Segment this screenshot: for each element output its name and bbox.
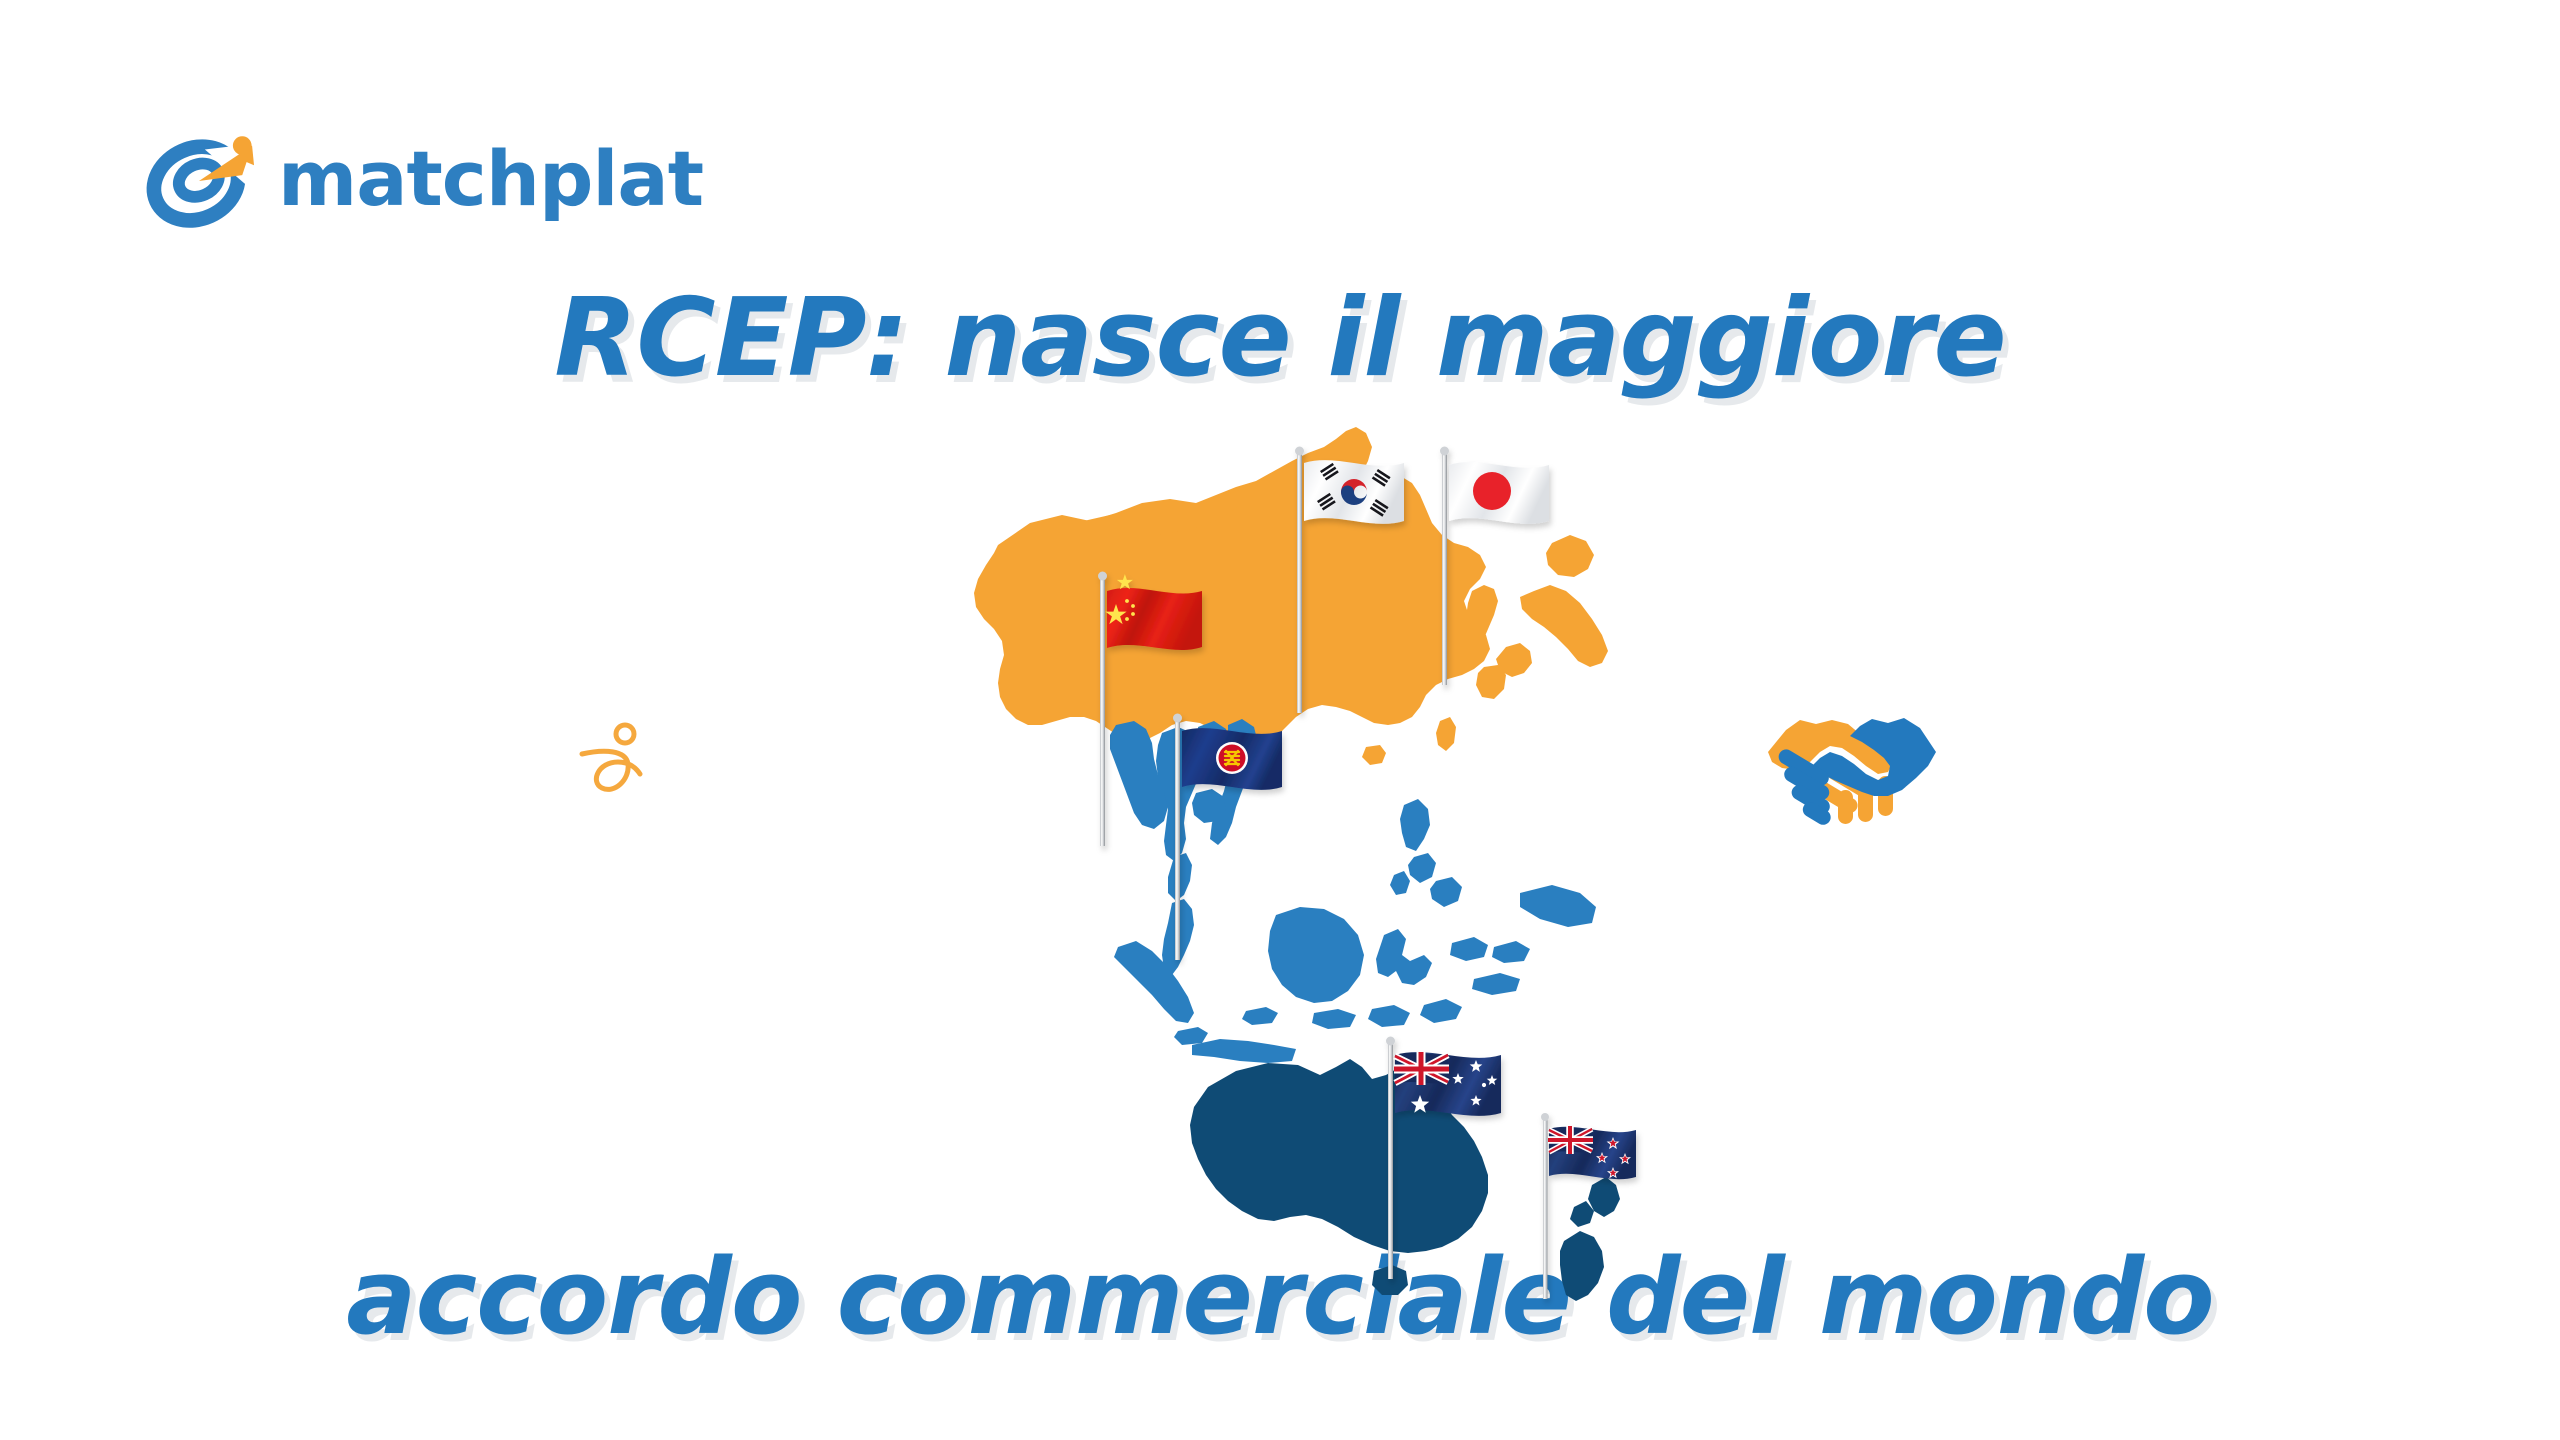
brand-logo[interactable]: matchplat xyxy=(138,120,703,238)
poster-canvas: matchplat RCEP: nasce il maggiore accord… xyxy=(0,0,2560,1440)
handshake-icon xyxy=(1762,690,1942,840)
page-title-line-2: accordo commerciale del mondo xyxy=(0,1245,2560,1349)
page-title-line-1: RCEP: nasce il maggiore xyxy=(0,285,2560,393)
rcep-map-illustration xyxy=(880,395,1700,1235)
matchplat-swirl-target-arrow-icon xyxy=(138,120,256,238)
matchplat-person-loop-icon xyxy=(578,718,658,808)
brand-wordmark: matchplat xyxy=(278,141,703,217)
